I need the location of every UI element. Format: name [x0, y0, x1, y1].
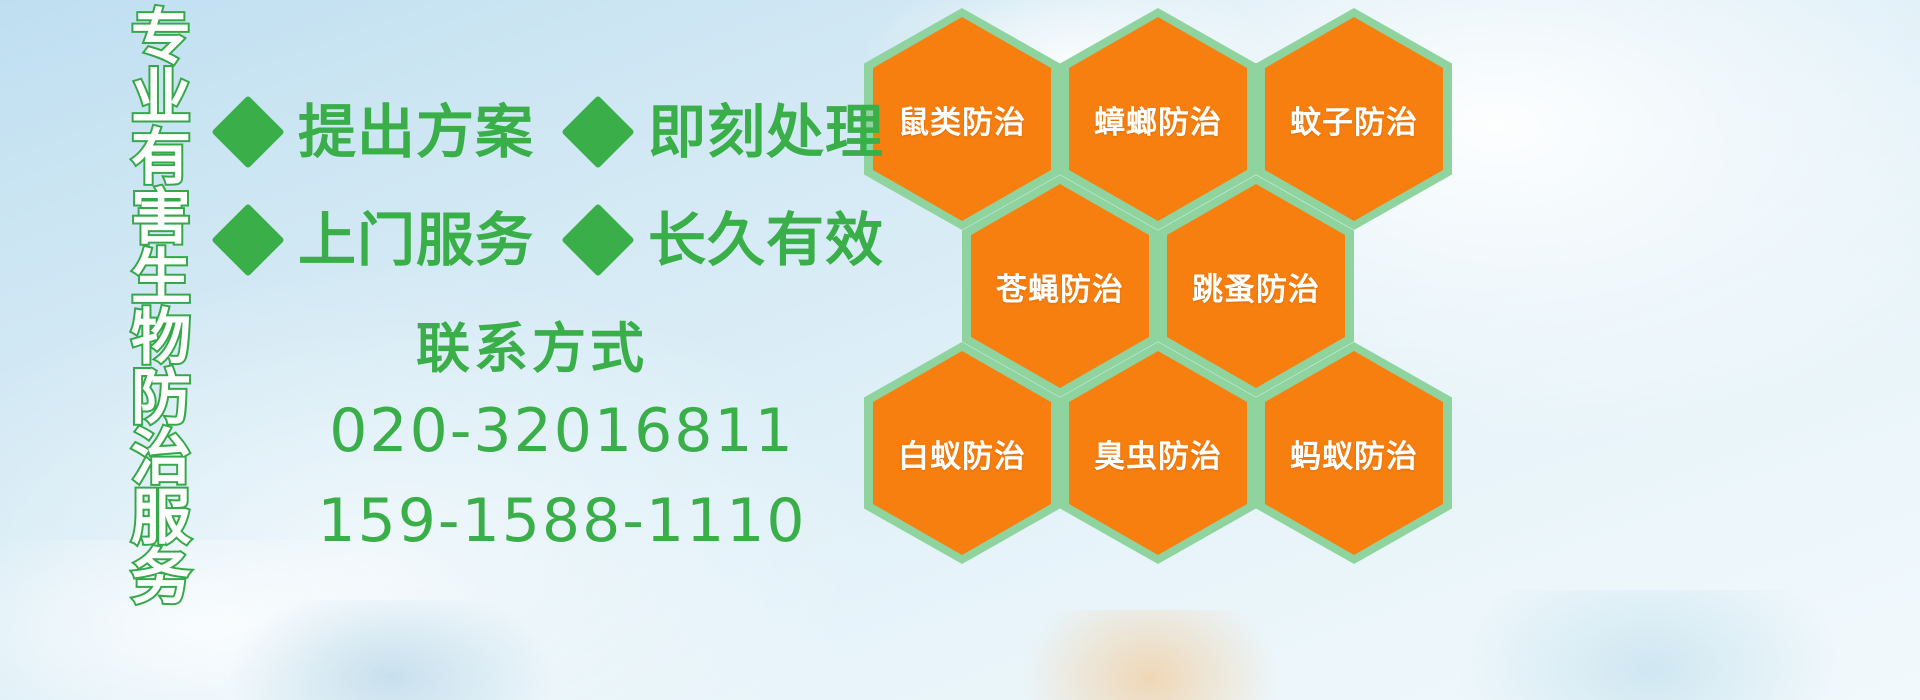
feature-label: 长久有效 [648, 211, 884, 269]
feature-label: 提出方案 [298, 103, 534, 161]
feature-list: 提出方案 即刻处理 上门服务 长久有效 [222, 78, 872, 294]
diamond-bullet-icon [561, 95, 635, 169]
feature-item-immediate-action: 即刻处理 [572, 103, 884, 161]
contact-phone-mobile[interactable]: 159-1588-1110 [222, 482, 902, 560]
hex-service-label: 臭虫防治 [1060, 342, 1256, 564]
contact-phone-landline[interactable]: 020-32016811 [222, 392, 902, 470]
hex-service-ant[interactable]: 蚂蚁防治 [1256, 342, 1452, 564]
service-hexagon-grid: 鼠类防治 蟑螂防治 蚊子防治 苍蝇防治 跳蚤防治 白蚁防治 [856, 0, 1476, 580]
contact-heading: 联系方式 [162, 318, 902, 380]
background-haze-blob [1020, 610, 1280, 700]
vertical-headline-char: 务 [131, 548, 191, 608]
vertical-headline-char: 害 [131, 188, 191, 248]
diamond-bullet-icon [561, 203, 635, 277]
hex-service-bedbug[interactable]: 臭虫防治 [1060, 342, 1256, 564]
background-haze-blob [230, 600, 550, 700]
hex-service-label: 蚂蚁防治 [1256, 342, 1452, 564]
feature-item-onsite-service: 上门服务 [222, 211, 534, 269]
diamond-bullet-icon [211, 203, 285, 277]
feature-item-long-lasting: 长久有效 [572, 211, 884, 269]
vertical-headline-char: 有 [131, 128, 191, 188]
vertical-headline-char: 业 [131, 68, 191, 128]
contact-block: 联系方式 020-32016811 159-1588-1110 [222, 318, 902, 560]
background-haze-blob [1460, 590, 1840, 700]
feature-row: 提出方案 即刻处理 [222, 78, 872, 186]
vertical-headline-char: 生 [131, 248, 191, 308]
pest-control-banner: 专 业 有 害 生 物 防 治 服 务 提出方案 即刻处理 上门服务 [0, 0, 1920, 700]
vertical-headline-char: 服 [131, 488, 191, 548]
feature-row: 上门服务 长久有效 [222, 186, 872, 294]
vertical-headline-char: 治 [131, 428, 191, 488]
vertical-headline-char: 专 [131, 8, 191, 68]
vertical-headline: 专 业 有 害 生 物 防 治 服 务 [108, 8, 214, 568]
feature-item-propose-plan: 提出方案 [222, 103, 534, 161]
diamond-bullet-icon [211, 95, 285, 169]
feature-label: 上门服务 [298, 211, 534, 269]
background-haze-blob [0, 540, 520, 700]
feature-label: 即刻处理 [648, 103, 884, 161]
